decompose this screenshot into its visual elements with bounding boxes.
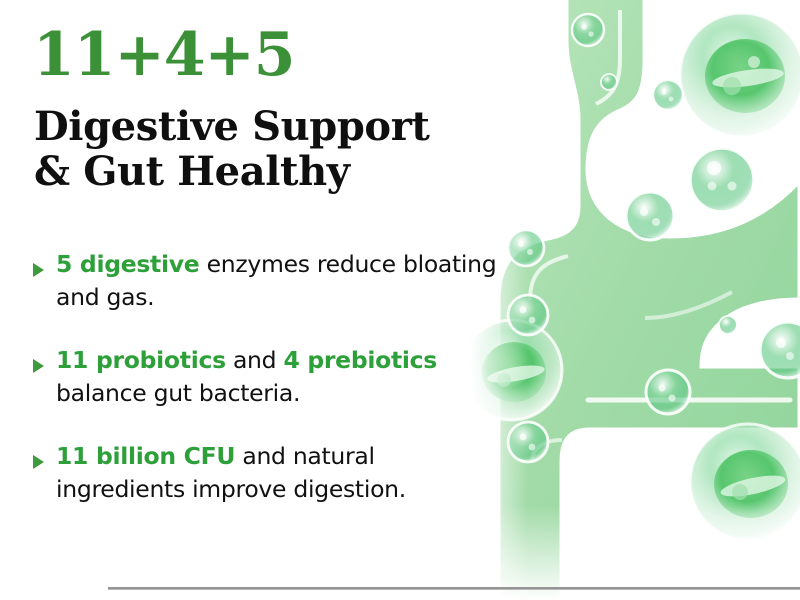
list-item-text: 11 probiotics and 4 prebiotics balance g… xyxy=(56,344,500,410)
bubble xyxy=(601,74,617,90)
bubble xyxy=(653,80,683,110)
list-item-text: 5 digestive enzymes reduce bloating and … xyxy=(56,248,500,314)
list-item: 5 digestive enzymes reduce bloating and … xyxy=(0,248,500,314)
list-item: 11 probiotics and 4 prebiotics balance g… xyxy=(0,344,500,410)
bubble xyxy=(690,148,754,212)
body-term: balance gut bacteria. xyxy=(56,379,300,407)
page-title: Digestive Support & Gut Healthy xyxy=(34,104,429,194)
triangle-right-icon xyxy=(33,263,44,277)
headline-numbers: 11+4+5 xyxy=(33,24,295,86)
poster-root: 11+4+5 Digestive Support & Gut Healthy 5… xyxy=(0,0,800,600)
benefit-list: 5 digestive enzymes reduce bloating and … xyxy=(0,248,500,536)
highlight-term: 5 digestive xyxy=(56,250,199,278)
bubble xyxy=(572,14,604,46)
bottom-divider xyxy=(108,587,800,590)
body-term: and natural xyxy=(235,442,375,470)
triangle-right-icon xyxy=(33,455,44,469)
highlight-term: 4 prebiotics xyxy=(283,346,437,374)
bubble xyxy=(719,316,737,334)
text-column: 11+4+5 Digestive Support & Gut Healthy 5… xyxy=(0,0,500,600)
triangle-right-icon xyxy=(33,359,44,373)
body-term: enzymes reduce xyxy=(199,250,395,278)
bubble xyxy=(626,192,674,240)
bubble xyxy=(760,322,800,378)
list-item-text: 11 billion CFU and natural ingredients i… xyxy=(56,440,500,506)
gut-intestine-illustration xyxy=(470,0,800,600)
body-term: ingredients improve digestion. xyxy=(56,475,406,503)
bubble xyxy=(646,370,690,414)
probiotic-cell-large xyxy=(680,13,800,137)
highlight-term: 11 probiotics xyxy=(56,346,226,374)
body-term: and xyxy=(226,346,284,374)
list-item: 11 billion CFU and natural ingredients i… xyxy=(0,440,500,506)
highlight-term: 11 billion CFU xyxy=(56,442,235,470)
